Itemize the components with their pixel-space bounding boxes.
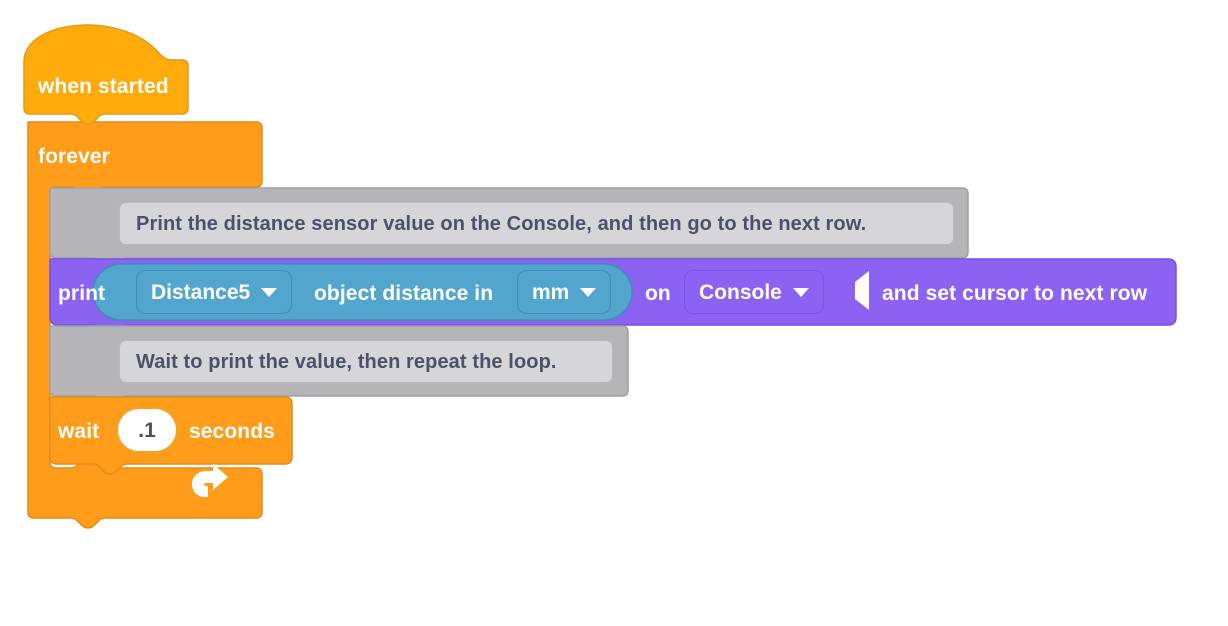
on-label: on: [645, 283, 671, 304]
when-started-label: when started: [38, 76, 169, 97]
print-target-dropdown[interactable]: Console: [684, 270, 824, 314]
print-target-value: Console: [699, 282, 782, 303]
distance-source-value: Distance5: [151, 282, 250, 303]
wait-seconds-value: .1: [138, 420, 156, 441]
block-editor-canvas: when started forever Print the distance …: [0, 0, 1228, 626]
print-label: print: [58, 283, 105, 304]
carriage-return-icon: [855, 282, 869, 300]
comment-2-text: Wait to print the value, then repeat the…: [136, 352, 557, 372]
distance-unit-value: mm: [532, 282, 569, 303]
chevron-down-icon: [793, 288, 809, 297]
comment-bubble-1[interactable]: Print the distance sensor value on the C…: [119, 202, 954, 245]
chevron-down-icon: [580, 288, 596, 297]
print-tail-label: and set cursor to next row: [882, 283, 1147, 304]
comment-bubble-2[interactable]: Wait to print the value, then repeat the…: [119, 340, 613, 383]
wait-label: wait: [58, 421, 99, 442]
seconds-label: seconds: [189, 421, 275, 442]
object-distance-in-label: object distance in: [314, 283, 493, 304]
distance-unit-dropdown[interactable]: mm: [517, 270, 611, 314]
wait-seconds-input[interactable]: .1: [117, 408, 177, 452]
distance-source-dropdown[interactable]: Distance5: [136, 270, 292, 314]
forever-label: forever: [38, 146, 110, 167]
comment-1-text: Print the distance sensor value on the C…: [136, 214, 866, 234]
chevron-down-icon: [261, 288, 277, 297]
